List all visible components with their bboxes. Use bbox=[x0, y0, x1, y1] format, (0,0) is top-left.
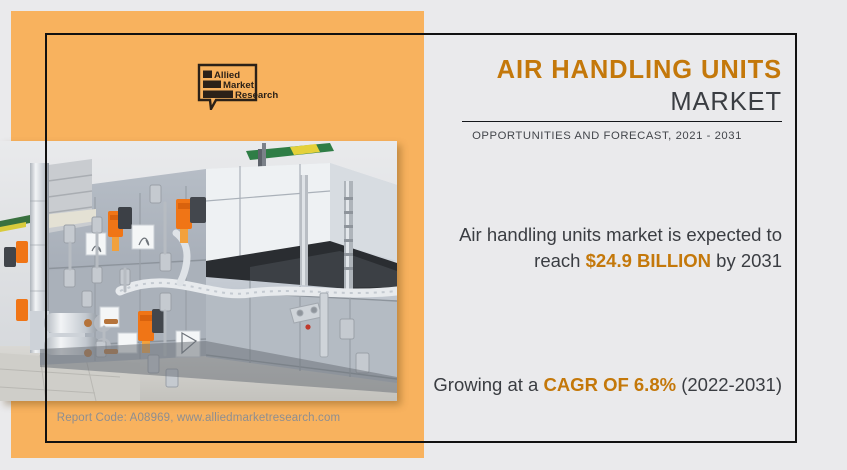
page-title-primary: AIR HANDLING UNITS bbox=[432, 57, 782, 85]
svg-text:Research: Research bbox=[235, 90, 278, 101]
statement-segment: Growing at a bbox=[433, 374, 543, 395]
air-handling-unit-photo bbox=[0, 141, 397, 401]
subtitle: OPPORTUNITIES AND FORECAST, 2021 - 2031 bbox=[432, 130, 782, 142]
report-code-caption: Report Code: A08969, www.alliedmarketres… bbox=[0, 412, 397, 424]
statement-segment: (2022-2031) bbox=[676, 374, 782, 395]
title-divider bbox=[462, 121, 782, 122]
page-title-secondary: MARKET bbox=[432, 87, 782, 117]
market-cagr-statement: Growing at a CAGR OF 6.8% (2022-2031) bbox=[424, 372, 782, 398]
market-value-statement: Air handling units market is expected to… bbox=[424, 222, 782, 275]
cagr-highlight: CAGR OF 6.8% bbox=[543, 374, 676, 395]
right-panel: AIR HANDLING UNITS MARKET OPPORTUNITIES … bbox=[424, 0, 847, 470]
statement-segment: by 2031 bbox=[711, 250, 782, 271]
allied-market-research-logo: Allied Market Research bbox=[196, 62, 286, 110]
market-value-highlight: $24.9 BILLION bbox=[586, 250, 711, 271]
title-block: AIR HANDLING UNITS MARKET bbox=[432, 57, 782, 117]
left-panel: Allied Market Research bbox=[0, 0, 424, 470]
market-report-poster: Allied Market Research bbox=[0, 0, 847, 470]
